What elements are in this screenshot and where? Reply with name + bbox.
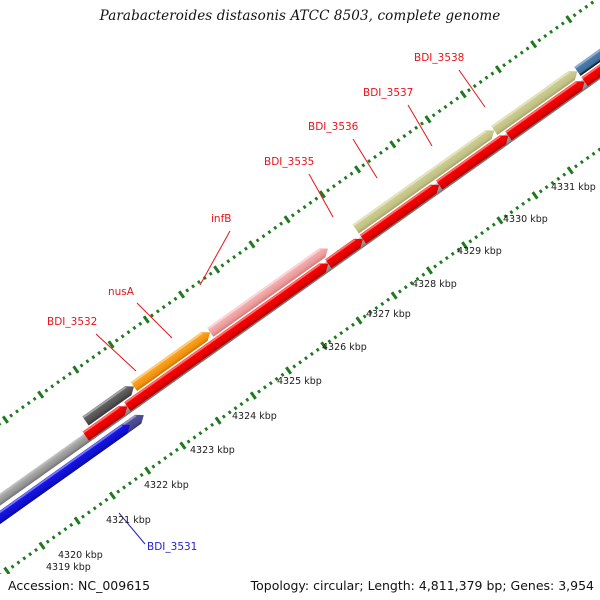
axis-tick-mark (173, 297, 177, 301)
axis-tick-mark (586, 156, 590, 160)
gene-red-2[interactable] (124, 259, 331, 411)
axis-tick-mark (273, 226, 277, 230)
axis-tick-mark (451, 252, 455, 256)
axis-tick-mark (539, 189, 543, 193)
axis-tick-mark (33, 397, 37, 401)
axis-tick-mark (209, 272, 213, 276)
axis-tick-mark (127, 330, 131, 334)
axis-tick-mark (460, 90, 467, 98)
axis-tick-label: 4323 kbp (190, 445, 235, 456)
axis-tick-mark (373, 155, 377, 159)
axis-tick-label: 4326 kbp (322, 342, 367, 353)
axis-tick-mark (222, 414, 226, 418)
axis-tick-mark (521, 202, 525, 206)
leader-bdi3536 (353, 139, 377, 178)
axis-tick-mark (85, 359, 89, 363)
lbl-infb[interactable]: infB (211, 213, 231, 225)
genome-viewer: Parabacteroides distasonis ATCC 8503, co… (0, 0, 600, 600)
axis-tick-mark (62, 376, 66, 380)
axis-tick-mark (397, 138, 401, 142)
axis-tick-mark (355, 316, 362, 324)
axis-tick-mark (2, 415, 9, 423)
axis-tick-mark (537, 38, 541, 42)
axis-tick-mark (267, 230, 271, 234)
axis-tick-mark (486, 227, 490, 231)
axis-tick-mark (250, 391, 257, 399)
axis-tick-mark (109, 492, 116, 500)
axis-tick-mark (584, 5, 588, 9)
axis-tick-mark (350, 172, 354, 176)
axis-tick-mark (279, 222, 283, 226)
axis-tick-mark (138, 322, 142, 326)
axis-tick-mark (191, 284, 195, 288)
gene-bdi3536[interactable] (352, 126, 497, 233)
leader-infb (200, 231, 230, 285)
axis-tick-mark (263, 385, 267, 389)
axis-tick-mark (408, 130, 412, 134)
axis-tick-mark (438, 109, 442, 113)
status-bar: Accession: NC_009615 Topology: circular;… (0, 574, 600, 600)
leader-bdi3537 (408, 105, 432, 146)
axis-tick-mark (213, 265, 220, 273)
axis-tick-mark (580, 160, 584, 164)
axis-tick-mark (193, 435, 197, 439)
axis-tick-mark (93, 506, 97, 510)
axis-tick-mark (34, 548, 38, 552)
axis-tick-mark (285, 366, 292, 374)
lbl-bdi3536[interactable]: BDI_3536 (308, 121, 359, 133)
axis-tick-mark (27, 401, 31, 405)
gene-bdi3535[interactable] (325, 235, 366, 269)
axis-tick-mark (455, 97, 459, 101)
axis-tick-mark (91, 355, 95, 359)
lbl-nusa[interactable]: nusA (108, 286, 135, 298)
axis-tick-mark (115, 338, 119, 342)
axis-tick-mark (11, 565, 15, 569)
axis-tick-mark (103, 347, 107, 351)
axis-tick-mark (234, 406, 238, 410)
axis-tick-mark (262, 234, 266, 238)
axis-tick-mark (310, 352, 314, 356)
axis-tick-mark (527, 198, 531, 202)
axis-tick-mark (414, 126, 418, 130)
axis-tick-mark (178, 290, 185, 298)
axis-tick-label: 4327 kbp (366, 309, 411, 320)
axis-tick-mark (122, 485, 126, 489)
axis-tick-mark (445, 256, 449, 260)
axis-tick-mark (468, 239, 472, 243)
axis-tick-label: 4325 kbp (277, 376, 322, 387)
axis-tick-mark (565, 15, 572, 23)
axis-tick-label: 4331 kbp (551, 182, 596, 193)
axis-tick-mark (380, 302, 384, 306)
axis-tick-mark (104, 498, 108, 502)
axis-tick-mark (0, 422, 1, 426)
axis-tick-mark (467, 88, 471, 92)
axis-tick-mark (386, 298, 390, 302)
axis-tick-mark (578, 9, 582, 13)
axis-tick-mark (81, 515, 85, 519)
axis-tick-mark (573, 13, 577, 17)
axis-tick-mark (426, 266, 433, 274)
axis-tick-mark (156, 309, 160, 313)
axis-tick-label: 4319 kbp (46, 562, 91, 573)
axis-tick-mark (449, 101, 453, 105)
axis-tick-mark (526, 46, 530, 50)
lbl-bdi3538[interactable]: BDI_3538 (414, 52, 464, 64)
axis-tick-mark (420, 122, 424, 126)
axis-tick-mark (562, 173, 566, 177)
gene-red-3-highlight (360, 185, 431, 236)
axis-tick-label: 4321 kbp (106, 515, 151, 526)
axis-tick-mark (21, 405, 25, 409)
genome-summary-label: Topology: circular; Length: 4,811,379 bp… (251, 578, 594, 593)
label-leader-lines (96, 70, 485, 544)
axis-tick-mark (530, 40, 537, 48)
axis-tick-label: 4328 kbp (412, 279, 457, 290)
axis-tick-mark (385, 147, 389, 151)
axis-tick-label: 4330 kbp (503, 214, 548, 225)
axis-tick-mark (332, 184, 336, 188)
axis-tick-mark (480, 231, 484, 235)
axis-tick-mark (37, 390, 44, 398)
axis-tick-mark (28, 552, 32, 556)
axis-tick-mark (514, 55, 518, 59)
axis-tick-mark (292, 364, 296, 368)
axis-tick-mark (549, 30, 553, 34)
axis-tick-mark (198, 431, 202, 435)
axis-tick-mark (22, 556, 26, 560)
axis-tick-mark (555, 26, 559, 30)
axis-tick-mark (9, 413, 13, 417)
gene-red-5-highlight (506, 82, 577, 133)
axis-tick-mark (297, 209, 301, 213)
axis-tick-mark (379, 151, 383, 155)
axis-tick-mark (144, 467, 151, 475)
axis-tick-mark (116, 490, 120, 494)
axis-tick-mark (532, 191, 539, 199)
axis-tick-mark (333, 335, 337, 339)
axis-tick-mark (338, 180, 342, 184)
axis-tick-mark (132, 326, 136, 330)
axis-tick-mark (69, 523, 73, 527)
axis-tick-mark (592, 152, 596, 156)
axis-tick-mark (474, 235, 478, 239)
axis-tick-mark (439, 260, 443, 264)
lbl-bdi3535[interactable]: BDI_3535 (264, 156, 314, 168)
axis-tick-mark (175, 448, 179, 452)
lbl-bdi3537[interactable]: BDI_3537 (363, 87, 413, 99)
axis-tick-mark (163, 456, 167, 460)
axis-tick-mark (515, 206, 519, 210)
axis-tick-mark (179, 441, 186, 449)
axis-tick-mark (226, 259, 230, 263)
axis-tick-mark (232, 255, 236, 259)
axis-tick-mark (361, 163, 365, 167)
axis-tick-mark (46, 540, 50, 544)
axis-ticks-lower (0, 100, 600, 600)
axis-tick-mark (304, 356, 308, 360)
axis-tick-mark (97, 351, 101, 355)
axis-tick-mark (303, 205, 307, 209)
axis-tick-mark (567, 166, 574, 174)
axis-tick-mark (398, 289, 402, 293)
axis-tick-mark (168, 301, 172, 305)
axis-tick-mark (502, 63, 506, 67)
axis-tick-mark (316, 348, 320, 352)
axis-tick-mark (485, 76, 489, 80)
axis-tick-mark (121, 334, 125, 338)
axis-tick-mark (210, 423, 214, 427)
axis-tick-mark (433, 264, 437, 268)
axis-tick-mark (248, 240, 255, 248)
lbl-bdi3531[interactable]: BDI_3531 (147, 541, 197, 553)
axis-tick-mark (421, 273, 425, 277)
axis-tick-mark (389, 140, 396, 148)
axis-tick-mark (220, 263, 224, 267)
axis-tick-mark (520, 51, 524, 55)
axis-tick-mark (239, 402, 243, 406)
sequence-track-group (0, 0, 600, 600)
axis-tick-mark (479, 80, 483, 84)
axis-tick-mark (128, 481, 132, 485)
axis-tick-mark (269, 381, 273, 385)
axis-tick-mark (404, 285, 408, 289)
axis-tick-mark (204, 427, 208, 431)
axis-tick-mark (284, 215, 291, 223)
axis-tick-mark (74, 517, 81, 525)
axis-tick-mark (87, 510, 91, 514)
axis-tick-mark (345, 327, 349, 331)
axis-tick-mark (545, 185, 549, 189)
axis-tick-mark (473, 84, 477, 88)
axis-tick-mark (326, 188, 330, 192)
axis-tick-label: 4320 kbp (58, 550, 103, 561)
axis-tick-label: 4324 kbp (232, 411, 277, 422)
axis-tick-mark (424, 115, 431, 123)
axis-tick-mark (298, 360, 302, 364)
axis-tick-mark (187, 439, 191, 443)
axis-tick-mark (72, 365, 79, 373)
axis-tick-mark (556, 177, 560, 181)
axis-tick-label: 4322 kbp (144, 480, 189, 491)
axis-tick-mark (215, 416, 222, 424)
axis-tick-mark (52, 535, 56, 539)
axis-tick-mark (391, 291, 398, 299)
axis-tick-mark (99, 502, 103, 506)
axis-tick-mark (351, 323, 355, 327)
axis-tick-mark (80, 363, 84, 367)
axis-tick-mark (432, 113, 436, 117)
gene-bdi3536-highlight (353, 131, 487, 227)
axis-tick-mark (16, 560, 20, 564)
axis-tick-mark (143, 315, 150, 323)
axis-tick-mark (402, 134, 406, 138)
axis-tick-mark (443, 105, 447, 109)
genome-map-canvas[interactable]: BDI_3532nusAinfBBDI_3535BDI_3536BDI_3537… (0, 0, 600, 600)
leader-nusa (137, 303, 172, 338)
axis-tick-mark (56, 380, 60, 384)
axis-tick-mark (495, 65, 502, 73)
axis-tick-mark (257, 389, 261, 393)
axis-tick-mark (151, 465, 155, 469)
axis-tick-mark (508, 59, 512, 63)
axis-tick-mark (354, 165, 361, 173)
axis-tick-label: 4329 kbp (457, 246, 502, 257)
axis-tick-mark (39, 542, 46, 550)
axis-tick-mark (15, 409, 19, 413)
axis-tick-mark (162, 305, 166, 309)
axis-tick-mark (339, 331, 343, 335)
axis-tick-mark (245, 398, 249, 402)
axis-tick-mark (291, 213, 295, 217)
axis-tick-mark (157, 460, 161, 464)
axis-tick-mark (490, 71, 494, 75)
axis-label-group: 4319 kbp4320 kbp4321 kbp4322 kbp4323 kbp… (46, 182, 596, 573)
axis-tick-mark (44, 388, 48, 392)
axis-tick-mark (238, 251, 242, 255)
axis-tick-mark (344, 176, 348, 180)
axis-tick-mark (492, 223, 496, 227)
axis-tick-mark (68, 372, 72, 376)
gene-infb[interactable] (207, 244, 331, 337)
axis-tick-mark (244, 247, 248, 251)
axis-tick-mark (561, 21, 565, 25)
lbl-bdi3532[interactable]: BDI_3532 (47, 316, 97, 328)
axis-tick-mark (134, 477, 138, 481)
axis-tick-mark (543, 34, 547, 38)
leader-bdi3538 (459, 70, 485, 107)
axis-tick-mark (169, 452, 173, 456)
axis-tick-mark (308, 201, 312, 205)
leader-bdi3535 (309, 174, 333, 217)
axis-tick-mark (590, 1, 594, 5)
axis-tick-mark (256, 238, 260, 242)
axis-tick-mark (574, 164, 578, 168)
axis-tick-mark (185, 288, 189, 292)
axis-tick-mark (50, 384, 54, 388)
accession-label: Accession: NC_009615 (8, 578, 150, 593)
axis-tick-mark (58, 531, 62, 535)
axis-tick-mark (140, 473, 144, 477)
axis-tick-mark (63, 527, 67, 531)
axis-tick-mark (314, 197, 318, 201)
